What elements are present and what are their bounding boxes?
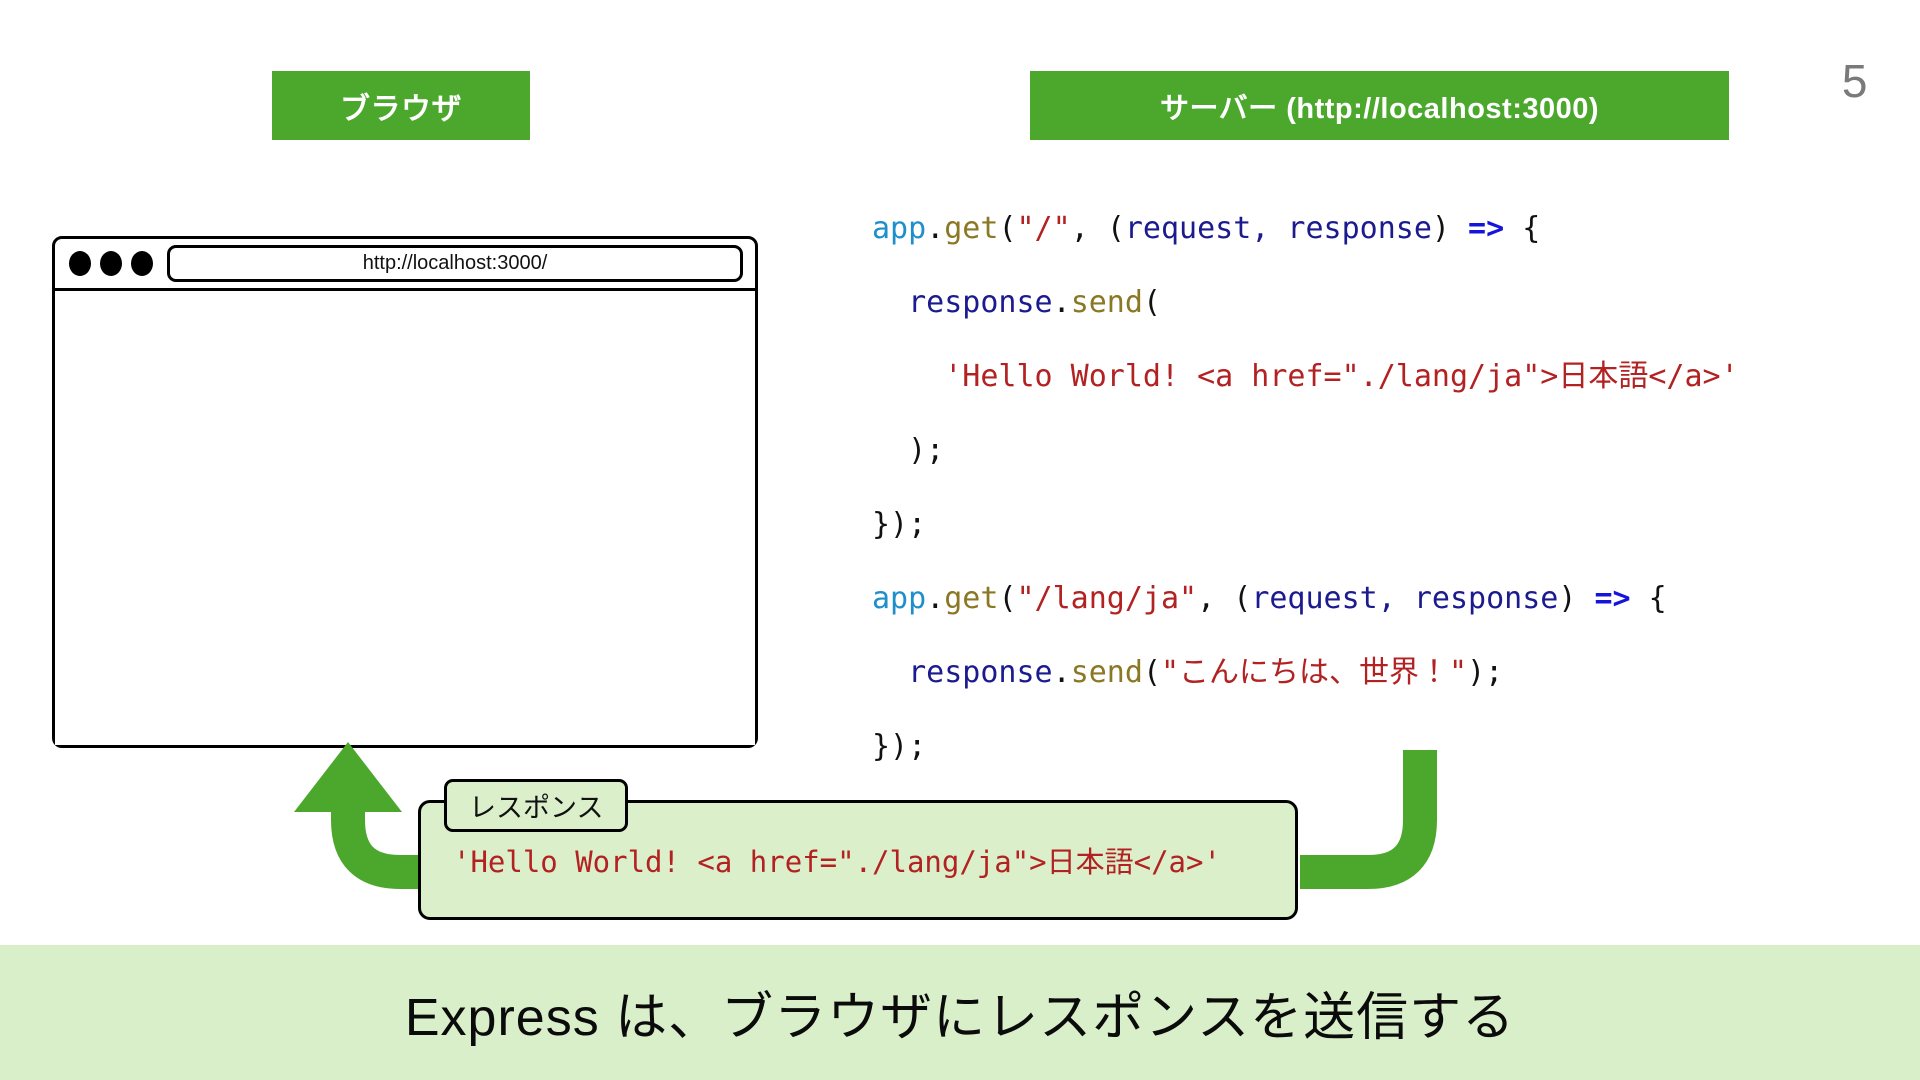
caption-bar: Express は、ブラウザにレスポンスを送信する: [0, 945, 1920, 1080]
response-label-text: レスポンス: [469, 786, 603, 825]
browser-header-label: ブラウザ: [340, 84, 462, 128]
code-token-punc: (: [1143, 655, 1161, 690]
code-token-punc: (: [1107, 211, 1125, 246]
code-token-punc: ,: [1197, 581, 1233, 616]
close-dot-icon[interactable]: [69, 251, 91, 276]
code-token-punc: });: [872, 729, 926, 764]
code-token-punc: ): [1432, 211, 1468, 246]
code-token-obj: app: [872, 211, 926, 246]
code-token-str: 'Hello World! <a href="./lang/ja">日本語</a…: [944, 359, 1738, 394]
code-token-punc: });: [872, 507, 926, 542]
code-indent: [872, 655, 908, 690]
browser-header-pill: ブラウザ: [272, 71, 530, 140]
code-token-punc: .: [1053, 285, 1071, 320]
code-token-punc: {: [1631, 581, 1667, 616]
code-token-obj: app: [872, 581, 926, 616]
code-token-var: request, response: [1251, 581, 1558, 616]
window-controls: [69, 251, 153, 276]
code-token-punc: ): [1558, 581, 1594, 616]
server-code-block: app.get("/", (request, response) => { re…: [872, 192, 1882, 784]
code-token-var: request, response: [1125, 211, 1432, 246]
code-token-punc: .: [926, 581, 944, 616]
code-indent: [872, 285, 908, 320]
caption-text: Express は、ブラウザにレスポンスを送信する: [405, 975, 1515, 1050]
minimize-dot-icon[interactable]: [100, 251, 122, 276]
code-line: app.get("/", (request, response) => {: [872, 192, 1882, 266]
response-payload-text: 'Hello World! <a href="./lang/ja">日本語</a…: [453, 839, 1221, 881]
code-line: app.get("/lang/ja", (request, response) …: [872, 562, 1882, 636]
slide-number: 5: [1842, 58, 1868, 104]
code-line: });: [872, 488, 1882, 562]
address-bar[interactable]: http://localhost:3000/: [167, 245, 743, 282]
code-token-punc: (: [1143, 285, 1161, 320]
browser-viewport: [55, 291, 755, 745]
code-line: );: [872, 414, 1882, 488]
code-token-str: "/lang/ja": [1017, 581, 1198, 616]
code-token-punc: .: [1053, 655, 1071, 690]
code-token-punc: (: [998, 581, 1016, 616]
code-line: 'Hello World! <a href="./lang/ja">日本語</a…: [872, 340, 1882, 414]
code-indent: [872, 359, 944, 394]
browser-window-mock: http://localhost:3000/: [52, 236, 758, 748]
code-token-str: "/": [1017, 211, 1071, 246]
code-token-var: response: [908, 285, 1053, 320]
code-token-fn: get: [944, 581, 998, 616]
address-bar-value: http://localhost:3000/: [363, 252, 548, 275]
code-token-arrow: =>: [1468, 211, 1504, 246]
code-line: response.send("こんにちは、世界！");: [872, 636, 1882, 710]
code-token-punc: .: [926, 211, 944, 246]
browser-chrome: http://localhost:3000/: [55, 239, 755, 291]
response-label-badge: レスポンス: [444, 779, 628, 832]
code-line: response.send(: [872, 266, 1882, 340]
code-indent: [872, 433, 908, 468]
code-token-punc: (: [1233, 581, 1251, 616]
maximize-dot-icon[interactable]: [131, 251, 153, 276]
code-token-fn: get: [944, 211, 998, 246]
server-header-label: サーバー (http://localhost:3000): [1160, 85, 1599, 127]
server-header-pill: サーバー (http://localhost:3000): [1030, 71, 1729, 140]
code-token-punc: );: [1467, 655, 1503, 690]
code-token-punc: ,: [1071, 211, 1107, 246]
code-token-fn: send: [1071, 285, 1143, 320]
code-token-fn: send: [1071, 655, 1143, 690]
code-token-punc: );: [908, 433, 944, 468]
code-token-var: response: [908, 655, 1053, 690]
code-token-punc: {: [1504, 211, 1540, 246]
code-token-arrow: =>: [1594, 581, 1630, 616]
code-token-punc: (: [998, 211, 1016, 246]
code-token-str: "こんにちは、世界！": [1161, 655, 1467, 690]
